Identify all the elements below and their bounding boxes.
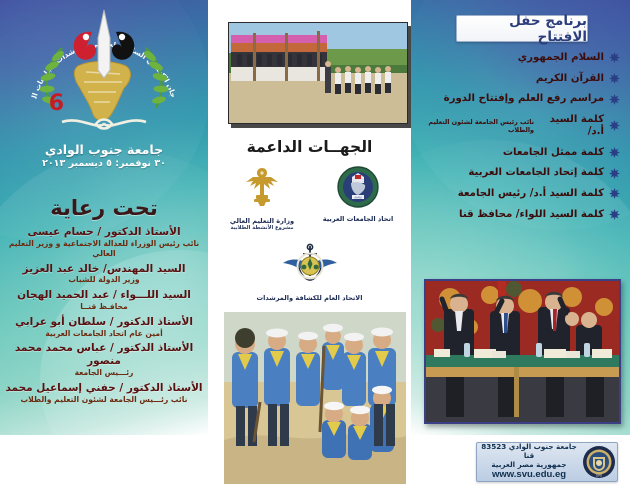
- program-item: كلمة السيد اللواء/ محافظ قنا: [415, 209, 626, 221]
- program-item-text: القرآن الكريم: [536, 73, 604, 85]
- university-name: جامعة جنوب الوادي: [0, 142, 208, 157]
- svg-text:6: 6: [49, 91, 64, 116]
- program-item-subtext: نائب رئيس الجامعة لشئون التعليم والطلاب: [415, 118, 534, 134]
- supporter-item: وزارة التعليم العالي مشروع الأنشطة الطلا…: [216, 165, 308, 231]
- starburst-bullet-icon: [609, 94, 620, 105]
- footer-website[interactable]: www.svu.edu.eg: [479, 469, 579, 481]
- svu-seal-icon: SVU: [582, 445, 616, 479]
- program-item-text: كلمة السيد أ.د/ رئيس الجامعة: [458, 188, 604, 200]
- patron-name: الأستاذ الدكتور / سلطان أبو عرابي: [4, 316, 204, 329]
- patron-entry: السيد اللـــواء / عبد الحميد الهجان محاف…: [4, 289, 204, 312]
- patron-role: محافـظ قنــا: [4, 302, 204, 312]
- supporter-caption: وزارة التعليم العالي: [216, 217, 308, 225]
- footer-country-line: جمهورية مصر العربية: [479, 460, 579, 469]
- event-date: ٣٠ نوفمبر: ٥ ديسمبر ٢٠١٣: [0, 158, 208, 169]
- patron-name: الأستاذ الدكتور / حفني إسماعيل محمد: [4, 382, 204, 395]
- patron-entry: الأستاذ الدكتور / حفني إسماعيل محمد نائب…: [4, 382, 204, 405]
- association-of-arab-universities-logo-icon: AARU: [336, 194, 380, 213]
- middle-panel: الجهــات الداعمة AARU اتحاد الجامعات الع…: [208, 0, 411, 491]
- program-item: كلمة ممثل الجامعات: [415, 147, 626, 159]
- patron-name: السيد اللـــواء / عبد الحميد الهجان: [4, 289, 204, 302]
- supporter-subcaption: مشروع الأنشطة الطلابية: [216, 225, 308, 231]
- scout-fleur-de-lis-emblem-icon: المهرجان الكشفي السادس لجوالي ومرشدات ال…: [0, 4, 208, 139]
- patron-entry: الأستاذ الدكتور / عباس محمد محمد منصور ر…: [4, 342, 204, 377]
- patrons-list: الأستاذ الدكتور / حسام عيسى نائب رئيس ال…: [4, 226, 204, 409]
- program-item: كلمة إتحاد الجامعات العربية: [415, 167, 626, 179]
- ceremony-dais-photo: [424, 279, 621, 424]
- footer-address-line: جامعة جنوب الوادي 83523 قنا: [479, 442, 579, 460]
- program-item-text: كلمة السيد أ.د/: [538, 114, 604, 137]
- patron-role: نائب رئـــيس الجامعة لشئون التعليم والطل…: [4, 395, 204, 405]
- footer-text: جامعة جنوب الوادي 83523 قنا جمهورية مصر …: [477, 442, 579, 481]
- general-federation-scouts-guides-logo-icon: [281, 273, 339, 292]
- program-item: مراسم رفع العلم وإفتتاح الدورة: [415, 93, 626, 105]
- program-list: السلام الجمهوري القرآن الكريم مراسم رفع …: [415, 52, 626, 229]
- patron-name: السيد المهندس/ خالد عبد العزيز: [4, 263, 204, 276]
- supporters-title: الجهــات الداعمة: [208, 138, 411, 156]
- program-title-banner: برنامج حفل الافتتاح: [456, 15, 588, 42]
- supporters-row: AARU اتحاد الجامعات العربية: [214, 165, 406, 231]
- patron-name: الأستاذ الدكتور / عباس محمد محمد منصور: [4, 342, 204, 368]
- program-item-text: مراسم رفع العلم وإفتتاح الدورة: [444, 93, 604, 105]
- program-item-text: كلمة إتحاد الجامعات العربية: [468, 167, 604, 179]
- patron-name: الأستاذ الدكتور / حسام عيسى: [4, 226, 204, 239]
- patron-entry: الأستاذ الدكتور / حسام عيسى نائب رئيس ال…: [4, 226, 204, 259]
- patron-entry: السيد المهندس/ خالد عبد العزيز وزير الدو…: [4, 263, 204, 286]
- patron-role: وزير الدولة للشباب: [4, 275, 204, 285]
- program-item: القرآن الكريم: [415, 73, 626, 85]
- program-item: السلام الجمهوري: [415, 52, 626, 64]
- under-patronage-heading: تحت رعاية: [0, 196, 208, 220]
- opening-parade-photo: [228, 22, 408, 124]
- starburst-bullet-icon: [609, 120, 620, 131]
- supporter-item: الاتحاد العام للكشافة والمرشدات: [208, 242, 411, 302]
- program-title-text: برنامج حفل الافتتاح: [457, 13, 587, 45]
- svg-text:SVU: SVU: [596, 473, 602, 477]
- starburst-bullet-icon: [609, 168, 620, 179]
- university-footer-badge: SVU جامعة جنوب الوادي 83523 قنا جمهورية …: [476, 442, 618, 482]
- starburst-bullet-icon: [609, 209, 620, 220]
- starburst-bullet-icon: [609, 52, 620, 63]
- starburst-bullet-icon: [609, 73, 620, 84]
- patron-role: أمين عام اتحاد الجامعات العربية: [4, 329, 204, 339]
- supporter-item: AARU اتحاد الجامعات العربية: [312, 165, 404, 223]
- svg-text:AARU: AARU: [354, 195, 361, 199]
- scouts-group-photo: [224, 312, 406, 484]
- supporter-caption: اتحاد الجامعات العربية: [312, 215, 404, 223]
- left-panel: المهرجان الكشفي السادس لجوالي ومرشدات ال…: [0, 0, 208, 435]
- program-item: كلمة السيد أ.د/ نائب رئيس الجامعة لشئون …: [415, 114, 626, 137]
- supporter-caption: الاتحاد العام للكشافة والمرشدات: [208, 294, 411, 302]
- program-item-text: كلمة السيد اللواء/ محافظ قنا: [459, 209, 604, 221]
- patron-role: رئـــيس الجامعة: [4, 368, 204, 378]
- starburst-bullet-icon: [609, 188, 620, 199]
- ministry-of-higher-education-eagle-logo-icon: [240, 196, 284, 215]
- patron-entry: الأستاذ الدكتور / سلطان أبو عرابي أمين ع…: [4, 316, 204, 339]
- starburst-bullet-icon: [609, 147, 620, 158]
- program-item: كلمة السيد أ.د/ رئيس الجامعة: [415, 188, 626, 200]
- patron-role: نائب رئيس الوزراء للعدالة الاجتماعية و و…: [4, 239, 204, 259]
- program-item-text: كلمة ممثل الجامعات: [503, 147, 604, 159]
- program-item-text: السلام الجمهوري: [518, 52, 604, 64]
- poster-page: المهرجان الكشفي السادس لجوالي ومرشدات ال…: [0, 0, 630, 491]
